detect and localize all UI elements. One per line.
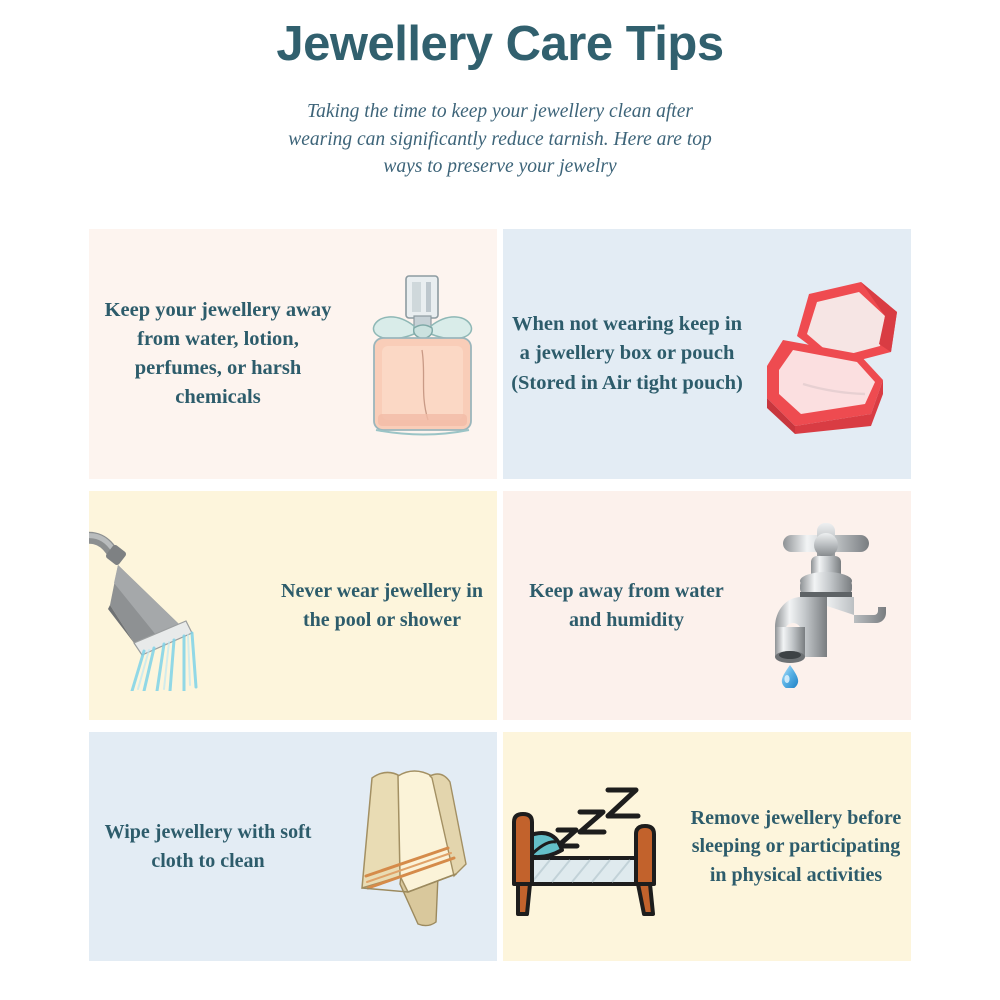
tip-text: Remove jewellery before sleeping or part… [681, 804, 911, 889]
tip-illustration [89, 491, 249, 720]
tip-card-cloth[interactable]: Wipe jewellery with soft cloth to clean [89, 732, 497, 961]
tip-illustration [744, 491, 911, 720]
tip-text: Never wear jewellery in the pool or show… [267, 577, 497, 634]
tip-text: Keep your jewellery away from water, lot… [89, 296, 347, 412]
infographic-page: Jewellery Care Tips Taking the time to k… [0, 0, 1000, 1000]
tip-illustration [347, 229, 497, 479]
tip-text: When not wearing keep in a jewellery box… [503, 310, 751, 397]
tip-card-perfume[interactable]: Keep your jewellery away from water, lot… [89, 229, 497, 479]
sleeping-bed-icon [503, 772, 671, 922]
page-title: Jewellery Care Tips [0, 18, 1000, 72]
perfume-bottle-icon [352, 264, 492, 444]
tip-text: Wipe jewellery with soft cloth to clean [89, 818, 327, 875]
page-subtitle: Taking the time to keep your jewellery c… [277, 98, 723, 181]
tip-card-shower[interactable]: Never wear jewellery in the pool or show… [89, 491, 497, 720]
tip-card-faucet[interactable]: Keep away from water and humidity [503, 491, 911, 720]
tip-illustration [751, 229, 911, 479]
header: Jewellery Care Tips Taking the time to k… [0, 0, 1000, 181]
cleaning-cloth-icon [342, 764, 482, 929]
tip-card-sleep[interactable]: Remove jewellery before sleeping or part… [503, 732, 911, 961]
ring-box-icon [751, 274, 911, 434]
tip-text: Keep away from water and humidity [509, 577, 744, 634]
faucet-icon [753, 523, 903, 688]
tip-card-jewellery-box[interactable]: When not wearing keep in a jewellery box… [503, 229, 911, 479]
shower-head-icon [89, 521, 249, 691]
tips-grid: Keep your jewellery away from water, lot… [89, 229, 911, 961]
tip-illustration [503, 732, 671, 961]
tip-illustration [327, 732, 497, 961]
